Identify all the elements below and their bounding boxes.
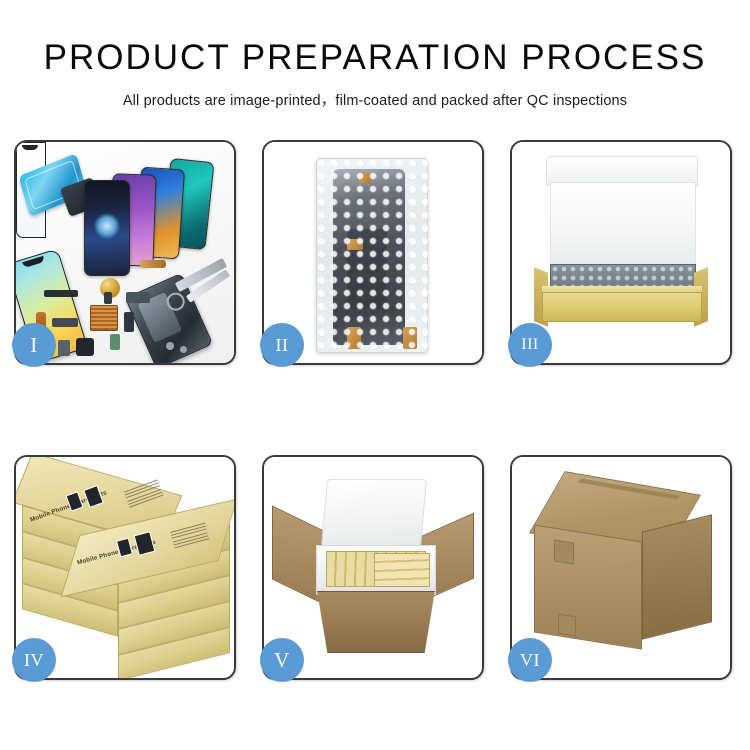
screw-2-graphic	[180, 346, 187, 353]
small-part-7-graphic	[76, 338, 94, 356]
carton-body-graphic	[312, 591, 440, 653]
tape-strip-3-graphic	[347, 327, 361, 349]
tape-strip-4-graphic	[403, 327, 417, 349]
step-panel-6: VI	[510, 455, 732, 680]
tape-strip-2-graphic	[347, 239, 363, 250]
page-subtitle: All products are image-printed，film-coat…	[0, 89, 750, 110]
step-badge-6: VI	[508, 638, 552, 682]
header: PRODUCT PREPARATION PROCESS All products…	[0, 0, 750, 110]
step-badge-2: II	[260, 323, 304, 367]
foam-padding-graphic	[550, 182, 696, 268]
bubble-bag-graphic	[316, 158, 428, 353]
wrapped-screen-graphic	[333, 169, 405, 345]
styrofoam-lid-graphic	[321, 479, 427, 547]
step-panel-4: Mobile Phone Spare Parts Mobile Phone Sp…	[14, 455, 236, 680]
step-badge-5: V	[260, 638, 304, 682]
flex-cable-5-graphic	[124, 312, 134, 332]
process-steps-grid: I II	[14, 140, 736, 680]
small-part-10-graphic	[110, 334, 120, 350]
carton-tape-2-graphic	[558, 614, 576, 637]
flex-cable-6-graphic	[140, 260, 166, 268]
phone-screen-2-graphic	[84, 180, 130, 276]
small-part-11-graphic	[104, 292, 112, 304]
step-panel-5: V	[262, 455, 484, 680]
page-title: PRODUCT PREPARATION PROCESS	[0, 38, 750, 78]
small-part-8-graphic	[58, 340, 70, 356]
step-panel-3: III	[510, 140, 732, 365]
product-preparation-infographic: PRODUCT PREPARATION PROCESS All products…	[0, 0, 750, 750]
flex-cable-4-graphic	[126, 292, 150, 303]
step-badge-4: IV	[12, 638, 56, 682]
box-front-face-graphic	[542, 292, 702, 322]
box-stack-graphic: Mobile Phone Spare Parts Mobile Phone Sp…	[22, 475, 230, 665]
screw-1-graphic	[166, 342, 174, 350]
flex-cable-3-graphic	[52, 318, 78, 327]
flex-cable-1-graphic	[44, 290, 78, 297]
carton-side-face-graphic	[642, 514, 712, 639]
step-panel-1: I	[14, 140, 236, 365]
step-badge-3: III	[508, 323, 552, 367]
copper-grid-graphic	[90, 305, 118, 331]
carton-front-face-graphic	[534, 524, 642, 649]
carton-tape-1-graphic	[554, 539, 574, 564]
packed-boxes-row-2-graphic	[374, 553, 430, 587]
step-panel-2: II	[262, 140, 484, 365]
step-badge-1: I	[12, 323, 56, 367]
tape-strip-1-graphic	[359, 173, 371, 183]
